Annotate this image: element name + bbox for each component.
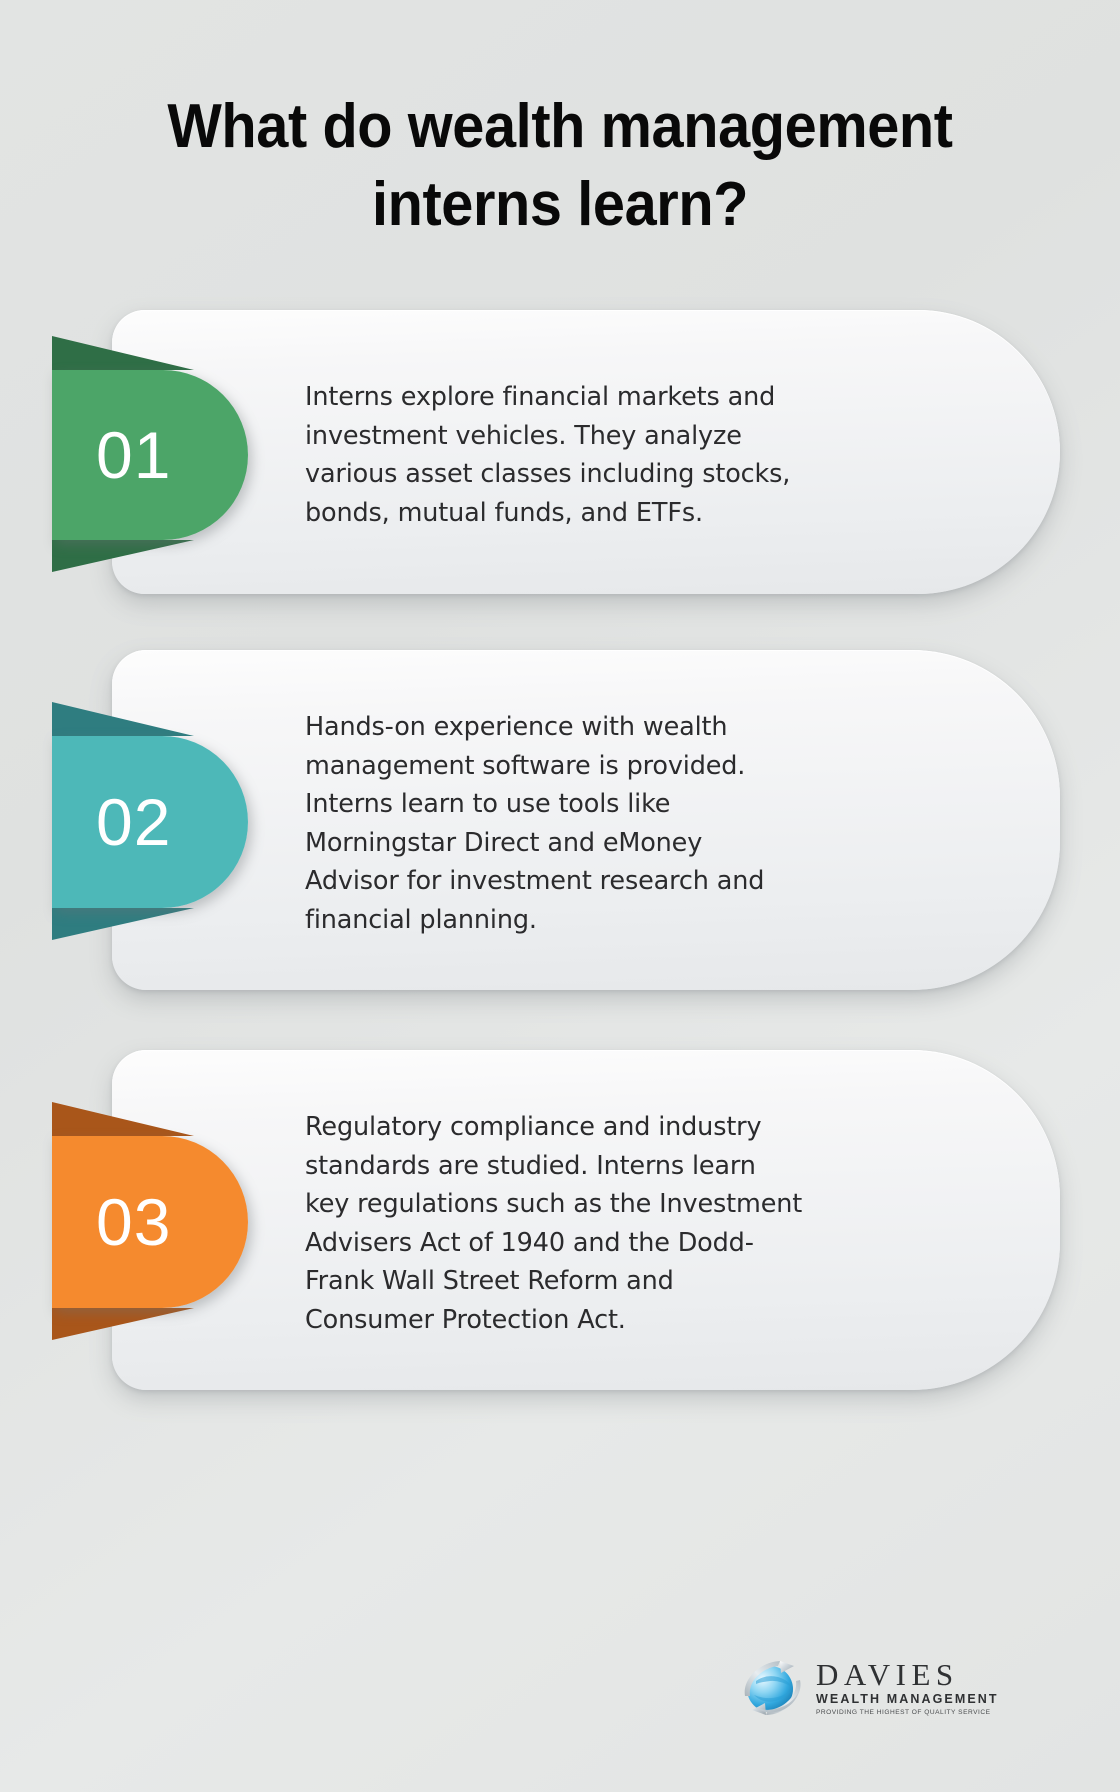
badge-number-3: 03 — [96, 1189, 171, 1255]
badge-number-1: 01 — [96, 422, 171, 488]
info-card-3-text: Regulatory compliance and industry stand… — [305, 1108, 825, 1339]
badge-fold-bottom-2 — [52, 908, 194, 940]
badge-fold-bottom-1 — [52, 540, 194, 572]
brand-name: DAVIES — [816, 1659, 999, 1691]
badge-fold-top-3 — [52, 1102, 194, 1136]
badge-body-2: 02 — [52, 736, 248, 908]
page-title-line-1: What do wealth management — [39, 88, 1081, 166]
brand-subtitle: WEALTH MANAGEMENT — [816, 1692, 999, 1707]
brand-tagline: PROVIDING THE HIGHEST OF QUALITY SERVICE — [816, 1708, 999, 1717]
badge-body-3: 03 — [52, 1136, 248, 1308]
info-card-1-text: Interns explore financial markets and in… — [305, 378, 825, 532]
page-title: What do wealth management interns learn? — [0, 88, 1120, 244]
globe-swoosh-icon — [736, 1651, 810, 1725]
page-title-line-2: interns learn? — [39, 166, 1081, 244]
badge-body-1: 01 — [52, 370, 248, 540]
badge-number-2: 02 — [96, 789, 171, 855]
info-card-2-text: Hands-on experience with wealth manageme… — [305, 708, 825, 939]
badge-fold-bottom-3 — [52, 1308, 194, 1340]
step-badge-2: 02 — [52, 736, 248, 908]
brand-logo: DAVIES WEALTH MANAGEMENT PROVIDING THE H… — [736, 1648, 1072, 1728]
step-badge-1: 01 — [52, 370, 248, 540]
brand-logo-text: DAVIES WEALTH MANAGEMENT PROVIDING THE H… — [816, 1659, 999, 1717]
badge-fold-top-2 — [52, 702, 194, 736]
badge-fold-top-1 — [52, 336, 194, 370]
step-badge-3: 03 — [52, 1136, 248, 1308]
